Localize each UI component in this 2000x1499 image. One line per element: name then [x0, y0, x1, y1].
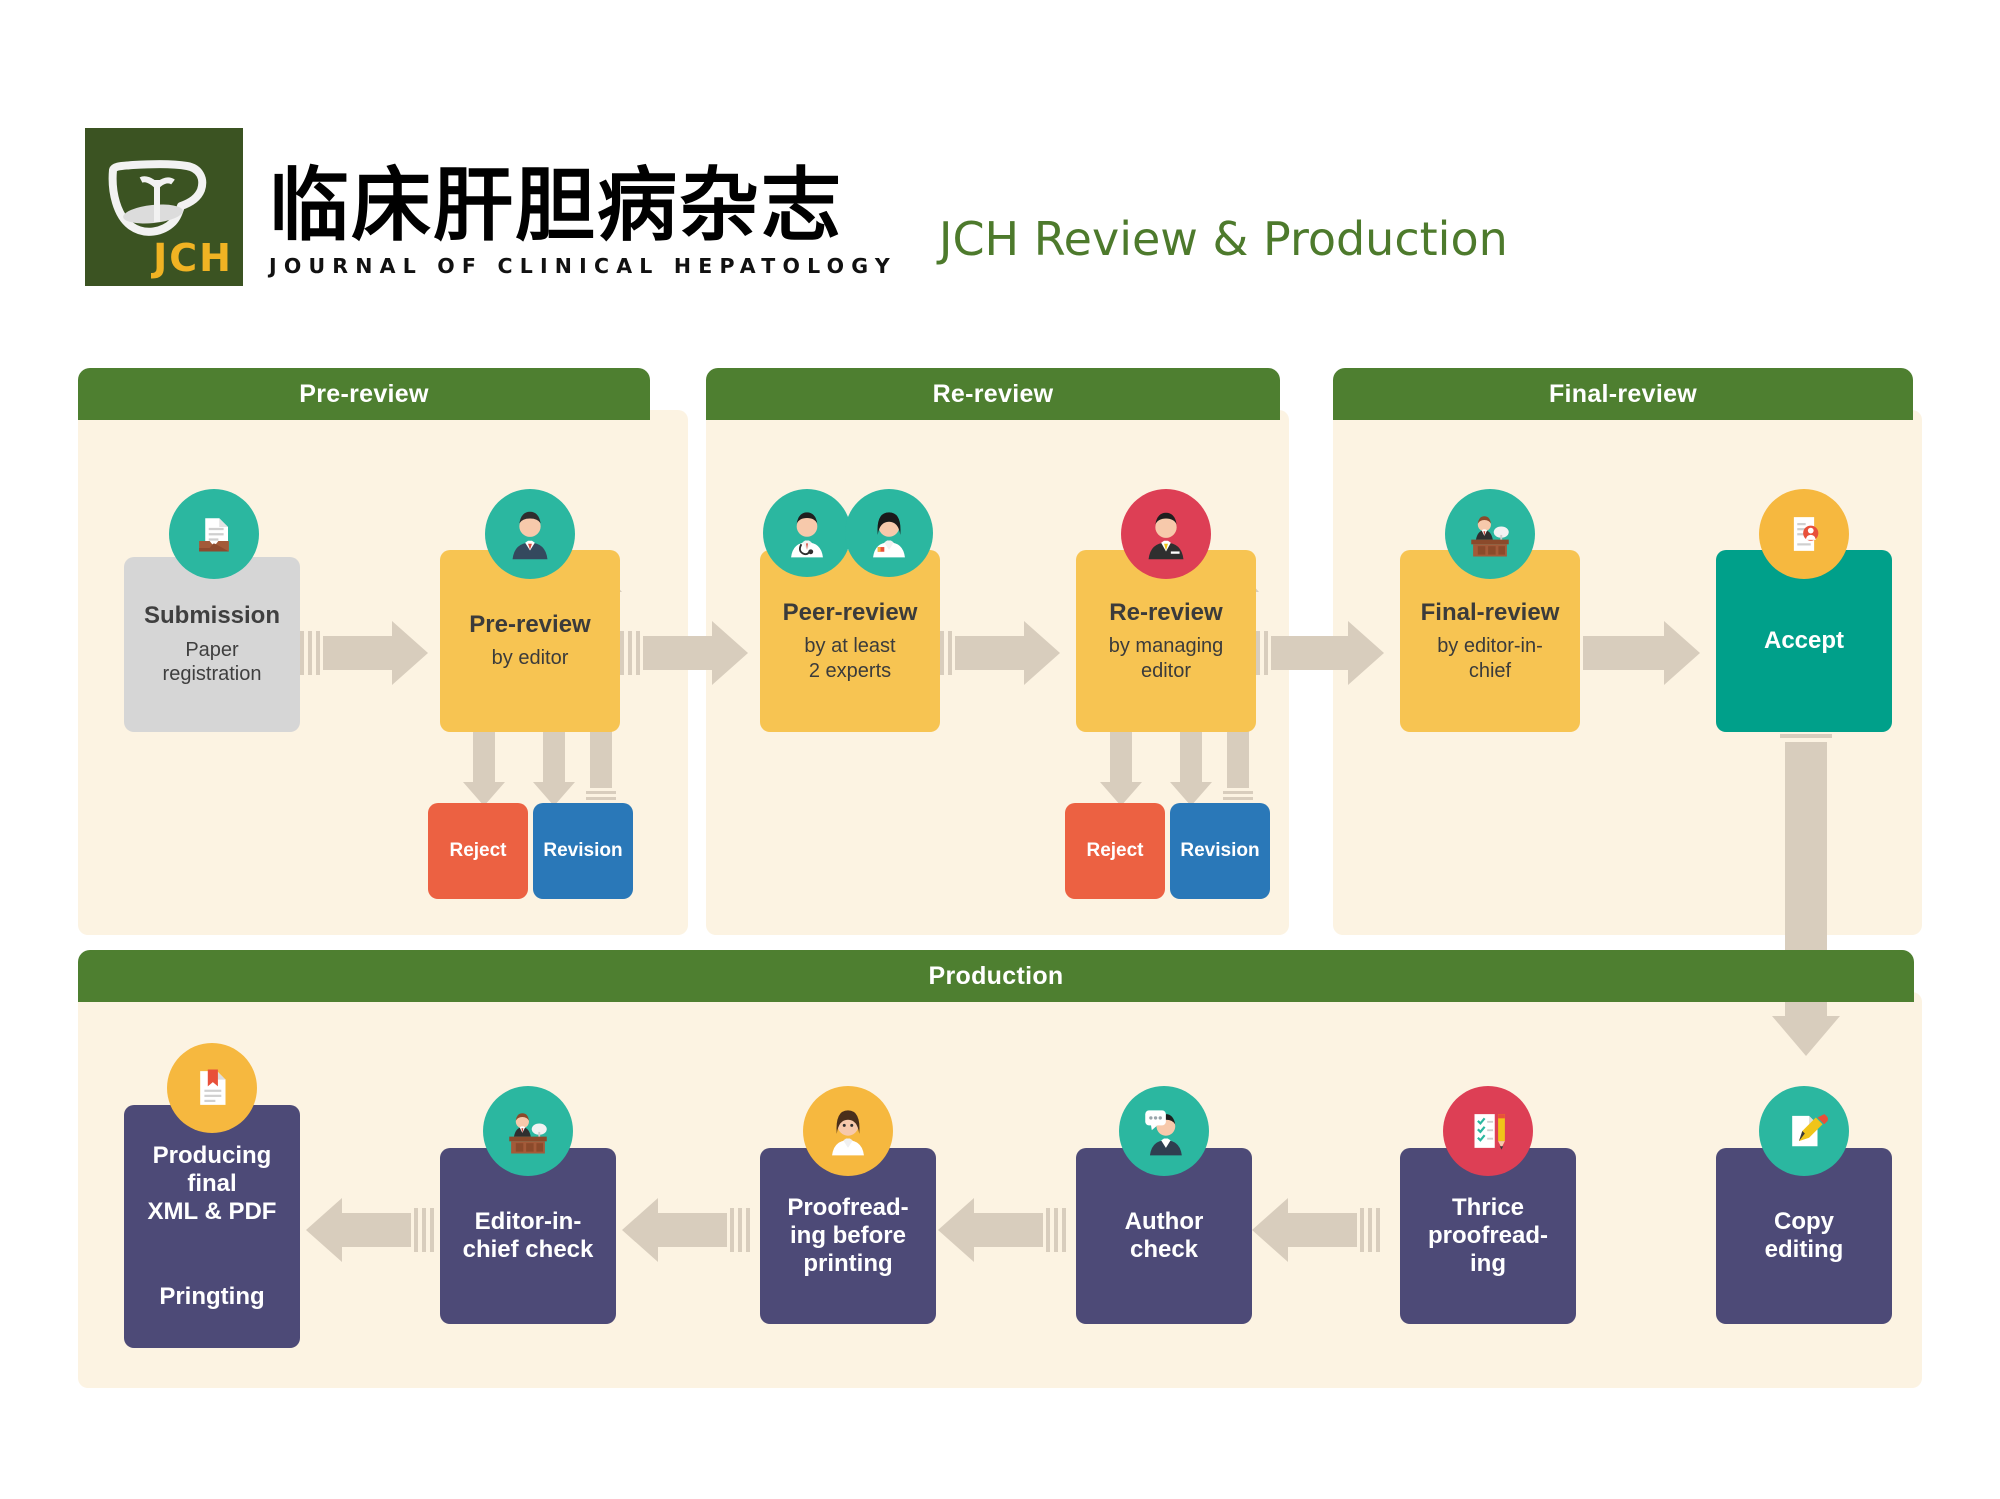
arrow-tail-lines	[300, 631, 320, 675]
bookmark-document-icon	[167, 1043, 257, 1133]
editor-in-chief-desk-icon	[1445, 489, 1535, 579]
arrow-prereview-to-peerreview	[620, 621, 748, 685]
arrow-tail	[974, 1213, 1043, 1247]
arrow-tail	[643, 636, 712, 670]
arrow-tail-lines	[414, 1208, 434, 1252]
arrow-rereview-to-finalreview	[1248, 621, 1384, 685]
panel-title-production: Production	[78, 950, 1914, 1002]
arrow-tail-lines	[1046, 1208, 1066, 1252]
page-header: JCH 临床肝胆病杂志 JOURNAL OF CLINICAL HEPATOLO…	[85, 128, 1508, 286]
node-subtitle: by at least2 experts	[804, 634, 895, 683]
journal-name-cn: 临床肝胆病杂志	[269, 166, 897, 246]
arrow-submission-to-prereview	[300, 621, 428, 685]
arrow-tail	[1288, 1213, 1357, 1247]
arrow-tail-lines	[620, 631, 640, 675]
node-title: Peer-review	[783, 599, 918, 627]
panel-production: Production	[78, 950, 1922, 1388]
node-title: Submission	[144, 602, 280, 630]
arrow-tail	[1583, 636, 1664, 670]
arrow-head	[1024, 621, 1060, 685]
two-experts-icon-right	[845, 489, 933, 577]
panel-title-final-review: Final-review	[1333, 368, 1913, 420]
node-subtitle: by managingeditor	[1109, 634, 1224, 683]
arrow-copyediting-to-thrice	[1252, 1198, 1380, 1262]
arrow-head	[306, 1198, 342, 1262]
diagram-canvas: JCH 临床肝胆病杂志 JOURNAL OF CLINICAL HEPATOLO…	[0, 0, 2000, 1499]
node-producing-final[interactable]: Producing finalXML & PDFPringting	[124, 1105, 300, 1348]
arrow-proofreading-to-eicheck	[306, 1198, 434, 1262]
arrow-tail	[342, 1213, 411, 1247]
two-experts-icon-left	[763, 489, 851, 577]
arrow-tail	[1271, 636, 1348, 670]
node-subtitle: Paperregistration	[163, 638, 262, 687]
node-label: Proofread-ing beforeprinting	[787, 1194, 908, 1279]
node-revision-1[interactable]: Revision	[533, 803, 633, 899]
arrow-tail	[658, 1213, 727, 1247]
arrow-peerreview-to-rereview	[932, 621, 1060, 685]
panel-title-re-review: Re-review	[706, 368, 1280, 420]
inbox-document-icon	[169, 489, 259, 579]
node-revision-2[interactable]: Revision	[1170, 803, 1270, 899]
node-label: Revision	[543, 840, 622, 862]
arrow-head	[938, 1198, 974, 1262]
node-subtitle: by editor-in-chief	[1437, 634, 1543, 683]
managing-editor-icon	[1121, 489, 1211, 579]
node-label: Thriceproofread-ing	[1428, 1194, 1548, 1279]
arrow-tail	[955, 636, 1024, 670]
proofreader-woman-icon	[803, 1086, 893, 1176]
arrow-tail-lines	[730, 1208, 750, 1252]
journal-logo: JCH	[85, 128, 243, 286]
journal-wordmark: 临床肝胆病杂志 JOURNAL OF CLINICAL HEPATOLOGY	[269, 166, 897, 286]
editor-person-icon	[485, 489, 575, 579]
node-label: Authorcheck	[1125, 1208, 1204, 1265]
node-label: Copyediting	[1765, 1208, 1844, 1265]
panel-body-production	[78, 992, 1922, 1388]
editor-in-chief-desk-icon-2	[483, 1086, 573, 1176]
arrow-authorcheck-to-proofreading	[622, 1198, 750, 1262]
checklist-pencil-icon	[1443, 1086, 1533, 1176]
pencil-edit-icon	[1759, 1086, 1849, 1176]
panel-title-pre-review: Pre-review	[78, 368, 650, 420]
node-label: Reject	[449, 840, 506, 862]
arrow-head	[1348, 621, 1384, 685]
node-title: Re-review	[1109, 599, 1222, 627]
node-label: Editor-in-chief check	[463, 1208, 594, 1265]
arrow-tail	[323, 636, 392, 670]
node-title: Final-review	[1421, 599, 1560, 627]
node-label: Reject	[1086, 840, 1143, 862]
accept-stamp-icon	[1759, 489, 1849, 579]
node-label: Producing finalXML & PDFPringting	[132, 1142, 292, 1312]
node-title: Pre-review	[469, 611, 590, 639]
journal-name-en: JOURNAL OF CLINICAL HEPATOLOGY	[269, 254, 897, 278]
arrow-head	[712, 621, 748, 685]
node-title: Accept	[1764, 627, 1844, 655]
arrow-accept-to-copyediting	[1772, 718, 1840, 1056]
node-submission[interactable]: Submission Paperregistration	[124, 557, 300, 732]
arrow-tail-lines	[1360, 1208, 1380, 1252]
logo-jch-text: JCH	[85, 236, 233, 280]
node-label: Revision	[1180, 840, 1259, 862]
arrow-finalreview-to-accept	[1560, 621, 1700, 685]
arrow-head	[622, 1198, 658, 1262]
arrow-thrice-to-authorcheck	[938, 1198, 1066, 1262]
liver-logo-icon	[101, 144, 219, 244]
author-speech-icon	[1119, 1086, 1209, 1176]
arrow-head	[392, 621, 428, 685]
arrow-head	[1252, 1198, 1288, 1262]
node-subtitle: by editor	[492, 646, 569, 670]
node-reject-1[interactable]: Reject	[428, 803, 528, 899]
page-title: JCH Review & Production	[939, 212, 1508, 286]
arrow-head	[1664, 621, 1700, 685]
node-reject-2[interactable]: Reject	[1065, 803, 1165, 899]
node-peer-review[interactable]: Peer-review by at least2 experts	[760, 550, 940, 732]
arrow-head	[1772, 1016, 1840, 1056]
